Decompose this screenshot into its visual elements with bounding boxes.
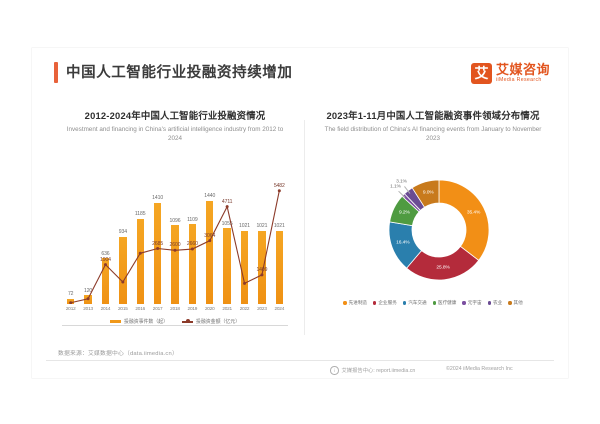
donut-legend-item: 企业服务 [373,300,397,306]
circle-i-icon: i [330,366,339,375]
donut-legend-label: 元宇宙 [468,300,482,306]
donut-legend-item: 农业 [488,300,503,306]
bar-column: 1055 [218,221,235,304]
bar-plot-area: 7212063693411851410109611091440105510211… [62,166,288,304]
report-center-link[interactable]: i 艾媒报告中心: report.iimedia.cn [330,366,415,375]
legend-color-dot [488,301,491,304]
bar-column: 1021 [236,223,253,304]
infographic-slide: 中国人工智能行业投融资持续增加 艾 艾媒咨询 iiMedia Research … [0,0,600,424]
donut-percent-label: 9.2% [399,211,410,216]
bar-value-label: 1055 [222,221,233,227]
bar-chart-legend: 投融资事件数（起） 投融资金额（亿元） [56,318,294,325]
bar-value-label: 1410 [152,195,163,201]
legend-label-amount: 投融资金额（亿元） [196,318,240,325]
infographic-canvas: 中国人工智能行业投融资持续增加 艾 艾媒咨询 iiMedia Research … [32,48,568,378]
bar-rect [206,201,213,304]
bar-rect [84,295,91,304]
bar-rect [241,231,248,304]
bar-column: 1096 [166,218,183,304]
footer: i 艾媒报告中心: report.iimedia.cn ©2024 iiMedi… [46,366,554,378]
bar-rect [258,231,265,304]
donut-chart: 35.4%25.8%16.4%9.2%1.1%3.1%9.0% 先进制造企业服务… [304,166,562,326]
donut-legend-label: 先进制造 [349,300,367,306]
x-axis-label: 2013 [79,306,96,311]
logo-name-en: iiMedia Research [496,76,550,84]
x-axis-labels: 2012201320142015201620172018201920202021… [62,306,288,316]
page-title: 中国人工智能行业投融资持续增加 [66,61,293,82]
donut-legend-item: 先进制造 [343,300,367,306]
bar-column: 1410 [149,195,166,304]
bar-value-label: 120 [84,288,92,294]
donut-legend-label: 企业服务 [378,300,396,306]
bar-rect [171,225,178,304]
bar-value-label: 1096 [170,218,181,224]
donut-percent-label: 1.1% [390,185,401,190]
x-axis-label: 2020 [201,306,218,311]
bar-column: 934 [114,229,131,304]
footer-rule [46,360,554,361]
bar-column: 1109 [184,217,201,304]
bar-rect [223,228,230,304]
bar-value-label: 636 [101,251,109,257]
header: 中国人工智能行业投融资持续增加 艾 艾媒咨询 iiMedia Research [32,48,568,98]
bar-rect [276,231,283,304]
logo-text: 艾媒咨询 iiMedia Research [496,63,550,84]
legend-color-dot [462,301,465,304]
x-axis-label: 2023 [253,306,270,311]
left-chart-title: 2012-2024年中国人工智能行业投融资情况 [46,110,304,122]
bar-column: 1185 [132,211,149,304]
report-center-label: 艾媒报告中心: report.iimedia.cn [342,366,416,374]
donut-legend-label: 农业 [493,300,502,306]
donut-percent-label: 16.4% [396,241,409,246]
bar-rect [154,203,161,304]
left-chart-subtitle: Investment and financing in China's arti… [46,125,304,143]
donut-graphic: 35.4%25.8%16.4%9.2%1.1%3.1%9.0% [383,174,495,286]
bar-value-label: 934 [119,229,127,235]
donut-percent-label: 9.0% [423,191,434,196]
x-axis-label: 2018 [166,306,183,311]
bar-column: 636 [97,251,114,304]
legend-color-dot [373,301,376,304]
bar-rect [189,224,196,304]
bar-value-label: 1185 [135,211,146,217]
donut-legend-label: 医疗健康 [438,300,456,306]
donut-percent-label: 35.4% [467,210,480,215]
donut-legend-item: 其他 [508,300,523,306]
donut-legend-label: 汽车交通 [408,300,426,306]
bar-column: 1440 [201,193,218,304]
copyright-label: ©2024 iiMedia Research Inc [446,366,513,372]
logo-name-cn: 艾媒咨询 [496,63,550,76]
x-axis-label: 2019 [184,306,201,311]
bar-value-label: 72 [68,291,73,297]
x-axis-label: 2016 [132,306,149,311]
bar-rect [119,237,126,304]
bar-value-label: 1021 [274,223,285,229]
right-chart-title: 2023年1-11月中国人工智能融资事件领域分布情况 [304,110,562,122]
bar-column: 1021 [253,223,270,304]
donut-legend-item: 元宇宙 [462,300,481,306]
data-source: 数据来源：艾媒数据中心（data.iimedia.cn） [58,348,178,357]
bar-column: 72 [62,291,79,304]
bar-value-label: 1109 [187,217,198,223]
legend-color-dot [403,301,406,304]
left-panel: 2012-2024年中国人工智能行业投融资情况 Investment and f… [46,110,304,360]
right-chart-subtitle: The field distribution of China's AI fin… [304,125,562,143]
bar-value-label: 1021 [239,223,250,229]
x-axis-label: 2017 [149,306,166,311]
donut-percent-label: 3.1% [396,179,407,184]
donut-legend-item: 医疗健康 [433,300,457,306]
x-axis-label: 2024 [271,306,288,311]
bar-column: 1021 [271,223,288,304]
legend-label-events: 投融资事件数（起） [124,318,168,325]
bar-column: 120 [79,288,96,304]
logo-mark-icon: 艾 [471,63,492,84]
title-accent-bar [54,62,58,83]
bar-rect [137,219,144,304]
legend-color-dot [508,301,511,304]
x-axis-label: 2021 [218,306,235,311]
right-panel: 2023年1-11月中国人工智能融资事件领域分布情况 The field dis… [304,110,562,360]
legend-bar-swatch [110,320,121,323]
bar-chart: 7212063693411851410109611091440105510211… [56,166,294,326]
bar-value-label: 1021 [256,223,267,229]
x-axis-line [62,325,288,326]
donut-percent-label: 25.8% [436,266,449,271]
bar-value-label: 1440 [204,193,215,199]
legend-item-events: 投融资事件数（起） [110,318,168,325]
x-axis-label: 2014 [97,306,114,311]
bar-rect [67,299,74,304]
brand-logo: 艾 艾媒咨询 iiMedia Research [471,60,550,86]
legend-color-dot [433,301,436,304]
donut-legend-item: 汽车交通 [403,300,427,306]
donut-legend: 先进制造企业服务汽车交通医疗健康元宇宙农业其他 [292,300,574,306]
x-axis-label: 2015 [114,306,131,311]
legend-color-dot [343,301,346,304]
donut-legend-label: 其他 [514,300,523,306]
legend-line-swatch [182,321,193,323]
legend-item-amount: 投融资金额（亿元） [182,318,240,325]
bar-rect [102,258,109,304]
x-axis-label: 2012 [62,306,79,311]
x-axis-label: 2022 [236,306,253,311]
donut-slice [439,180,489,260]
